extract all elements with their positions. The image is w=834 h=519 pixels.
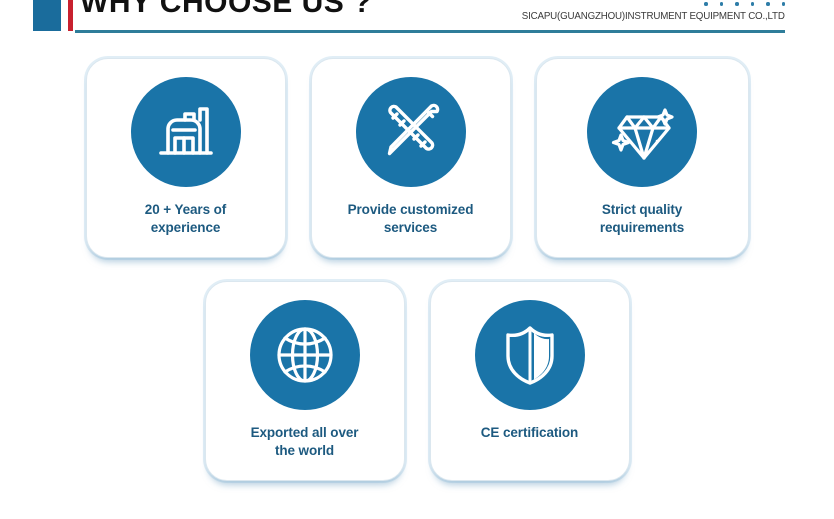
feature-card-ce-certification[interactable]: CE certification — [430, 281, 630, 481]
feature-card-label: 20 + Years of experience — [137, 201, 234, 237]
feature-card-export[interactable]: Exported all over the world — [205, 281, 405, 481]
feature-row-1: 20 + Years of experience Provide customi… — [0, 58, 834, 258]
globe-icon — [250, 300, 360, 410]
feature-row-2: Exported all over the world CE certifica… — [0, 281, 834, 481]
shield-icon — [475, 300, 585, 410]
page-title: WHY CHOOSE US ? — [80, 0, 372, 20]
feature-card-label: Strict quality requirements — [592, 201, 692, 237]
feature-card-label: Provide customized services — [340, 201, 482, 237]
factory-icon — [131, 77, 241, 187]
header-dots-decoration — [704, 2, 785, 6]
header-blue-block — [33, 0, 61, 31]
pencil-ruler-icon — [356, 77, 466, 187]
dot-icon — [782, 2, 786, 6]
feature-card-experience[interactable]: 20 + Years of experience — [86, 58, 286, 258]
header-red-bar — [68, 0, 73, 31]
feature-card-customization[interactable]: Provide customized services — [311, 58, 511, 258]
feature-card-quality[interactable]: Strict quality requirements — [536, 58, 749, 258]
diamond-icon — [587, 77, 697, 187]
feature-card-label: CE certification — [473, 424, 586, 442]
page-header: WHY CHOOSE US ? SICAPU(GUANGZHOU)INSTRUM… — [0, 0, 834, 44]
dot-icon — [720, 2, 724, 6]
dot-icon — [751, 2, 755, 6]
header-divider — [75, 30, 785, 33]
company-name: SICAPU(GUANGZHOU)INSTRUMENT EQUIPMENT CO… — [522, 10, 785, 22]
feature-card-label: Exported all over the world — [243, 424, 367, 460]
dot-icon — [735, 2, 739, 6]
dot-icon — [766, 2, 770, 6]
dot-icon — [704, 2, 708, 6]
feature-card-grid: 20 + Years of experience Provide customi… — [0, 58, 834, 481]
